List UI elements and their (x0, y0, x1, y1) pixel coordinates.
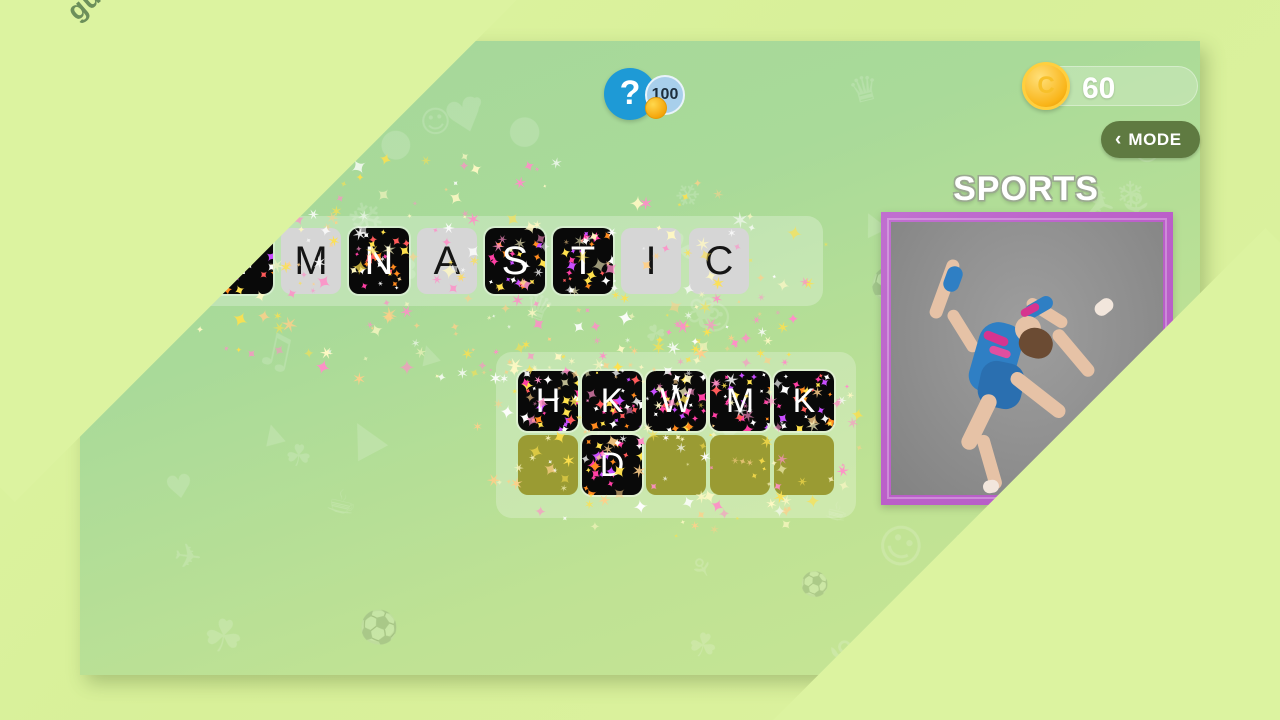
bank-tile-2-1[interactable]: ✦✦✦✦✦✦✦✦✦✦✦✦✦✦✦✦✦✦✦✦✦✦✦✦D (582, 435, 642, 495)
answer-tile-letter: M (294, 241, 327, 281)
doodle-icon: ❄ (668, 177, 705, 216)
doodle-icon: ▲ (260, 418, 286, 448)
doodle-icon: ☘ (284, 441, 313, 473)
doodle-icon: ♥ (163, 469, 196, 505)
doodle-icon: ⚽ (800, 572, 831, 597)
category-title: SPORTS (880, 170, 1172, 209)
answer-tile-4[interactable]: A (417, 228, 477, 294)
bank-tile-2-4[interactable] (774, 435, 834, 495)
doodle-icon: ⚽ (358, 611, 400, 645)
doodle-icon: ☕ (323, 482, 360, 521)
coin-count-label: 60 (1082, 72, 1115, 106)
promo-line-3: guessing the IMAGE (61, 0, 330, 27)
doodle-icon: ⚘ (686, 552, 720, 587)
doodle-icon: ☘ (684, 626, 721, 666)
gymnast-leg-front-lower (1050, 327, 1097, 380)
bank-tile-2-3[interactable] (710, 435, 770, 495)
chevron-left-icon: ‹ (1115, 130, 1121, 149)
answer-tile-6[interactable]: ✦✦✦✦✦✦✦✦✦✦✦✦✦✦✦✦✦✦✦✦✦✦T (553, 228, 613, 294)
letter-bank-row-1: ✦✦✦✦✦✦✦✦✦✦✦✦✦✦✦✦✦✦✦✦✦✦✦✦H✦✦✦✦✦✦✦✦✦✦✦✦✦✦✦… (518, 371, 834, 431)
bank-tile-letter: K (793, 384, 816, 418)
doodle-icon: ☺ (869, 515, 931, 577)
doodle-icon: ♛ (845, 70, 884, 111)
answer-tile-letter: I (645, 241, 656, 281)
answer-tile-letter: A (434, 241, 461, 281)
answer-tile-3[interactable]: ✦✦✦✦✦✦✦✦✦✦✦✦✦✦✦✦✦✦✦✦✦✦N (349, 228, 409, 294)
bank-tile-letter: H (536, 384, 561, 418)
doodle-icon: ♫ (252, 325, 301, 378)
doodle-icon: ▲ (416, 339, 442, 368)
answer-tile-8[interactable]: C (689, 228, 749, 294)
coin-icon: C (1022, 62, 1070, 110)
bank-tile-1-2[interactable]: ✦✦✦✦✦✦✦✦✦✦✦✦✦✦✦✦✦✦✦✦✦✦✦✦W (646, 371, 706, 431)
bank-tile-letter: K (601, 384, 624, 418)
doodle-icon: ☘ (641, 318, 670, 348)
letter-bank[interactable]: ✦✦✦✦✦✦✦✦✦✦✦✦✦✦✦✦✦✦✦✦✦✦✦✦H✦✦✦✦✦✦✦✦✦✦✦✦✦✦✦… (518, 371, 834, 495)
bank-tile-2-2[interactable] (646, 435, 706, 495)
doodle-icon: ☘ (199, 611, 247, 663)
bank-tile-1-3[interactable]: ✦✦✦✦✦✦✦✦✦✦✦✦✦✦✦✦✦✦✦✦✦✦✦✦M (710, 371, 770, 431)
answer-tile-letter: N (365, 241, 394, 281)
answer-tile-letter: S (502, 241, 529, 281)
bank-tile-letter: M (726, 384, 754, 418)
answer-tile-letter: C (705, 241, 734, 281)
doodle-icon: ● (507, 110, 543, 151)
answer-tile-7[interactable]: I (621, 228, 681, 294)
bank-tile-2-0[interactable] (518, 435, 578, 495)
bank-tile-1-0[interactable]: ✦✦✦✦✦✦✦✦✦✦✦✦✦✦✦✦✦✦✦✦✦✦✦✦H (518, 371, 578, 431)
mode-button[interactable]: ‹ MODE (1101, 121, 1200, 158)
answer-tile-5[interactable]: ✦✦✦✦✦✦✦✦✦✦✦✦✦✦✦✦✦✦✦✦✦✦S (485, 228, 545, 294)
answer-tile-2[interactable]: M (281, 228, 341, 294)
question-mark-icon: ? (620, 76, 641, 110)
bank-tile-letter: W (660, 384, 692, 418)
bank-tile-1-4[interactable]: ✦✦✦✦✦✦✦✦✦✦✦✦✦✦✦✦✦✦✦✦✦✦✦✦K (774, 371, 834, 431)
bank-tile-1-1[interactable]: ✦✦✦✦✦✦✦✦✦✦✦✦✦✦✦✦✦✦✦✦✦✦✦✦K (582, 371, 642, 431)
mode-button-label: MODE (1128, 130, 1181, 150)
coin-symbol: C (1037, 72, 1054, 100)
doodle-icon: ✈ (172, 538, 204, 575)
letter-bank-row-2: ✦✦✦✦✦✦✦✦✦✦✦✦✦✦✦✦✦✦✦✦✦✦✦✦D (518, 435, 834, 495)
doodle-icon: ▲ (338, 408, 389, 463)
gymnast-foot-front (1092, 295, 1116, 318)
gymnast-foot-back (982, 479, 1000, 495)
answer-tile-letter: T (571, 241, 595, 281)
hint-coin-icon (645, 97, 667, 119)
bank-tile-letter: D (600, 448, 625, 482)
